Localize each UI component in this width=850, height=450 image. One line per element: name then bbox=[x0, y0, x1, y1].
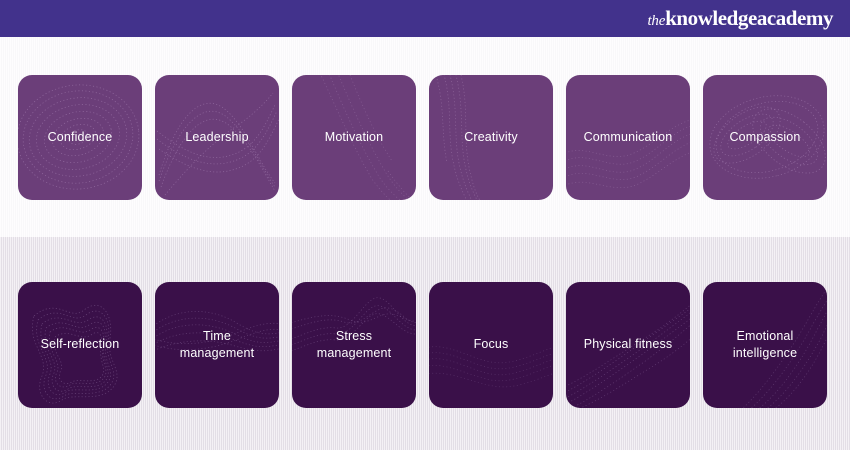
skill-card-label: Leadership bbox=[180, 129, 253, 147]
skill-card-label: Motivation bbox=[320, 129, 388, 147]
skill-card-label: Creativity bbox=[459, 129, 523, 147]
brand-logo[interactable]: theknowledgeacademy bbox=[647, 8, 833, 29]
logo-the-text: the bbox=[647, 14, 665, 29]
skill-card-label: Emotional intelligence bbox=[728, 328, 802, 363]
skill-card[interactable]: Stress management bbox=[292, 282, 416, 408]
skill-card[interactable]: Creativity bbox=[429, 75, 553, 200]
header-bar: theknowledgeacademy bbox=[0, 0, 850, 37]
skill-card[interactable]: Emotional intelligence bbox=[703, 282, 827, 408]
skill-card[interactable]: Focus bbox=[429, 282, 553, 408]
skill-card[interactable]: Motivation bbox=[292, 75, 416, 200]
skill-card[interactable]: Communication bbox=[566, 75, 690, 200]
logo-main-text: knowledgeacademy bbox=[665, 8, 833, 29]
skill-card-label: Time management bbox=[175, 328, 259, 363]
skill-card[interactable]: Physical fitness bbox=[566, 282, 690, 408]
skill-card-label: Physical fitness bbox=[579, 336, 678, 354]
skill-card-label: Self-reflection bbox=[36, 336, 125, 354]
skill-card[interactable]: Compassion bbox=[703, 75, 827, 200]
skill-card-row-1: Confidence Leadership bbox=[18, 75, 832, 200]
skill-card[interactable]: Leadership bbox=[155, 75, 279, 200]
skill-card-label: Communication bbox=[579, 129, 678, 147]
skill-card-label: Stress management bbox=[312, 328, 396, 363]
skill-card[interactable]: Self-reflection bbox=[18, 282, 142, 408]
skill-card[interactable]: Time management bbox=[155, 282, 279, 408]
skill-card-label: Confidence bbox=[43, 129, 118, 147]
skill-card-label: Focus bbox=[469, 336, 514, 354]
infographic-page: theknowledgeacademy bbox=[0, 0, 850, 450]
skill-card-label: Compassion bbox=[725, 129, 806, 147]
skill-card[interactable]: Confidence bbox=[18, 75, 142, 200]
skill-card-row-2: Self-reflection Time management bbox=[18, 282, 832, 408]
